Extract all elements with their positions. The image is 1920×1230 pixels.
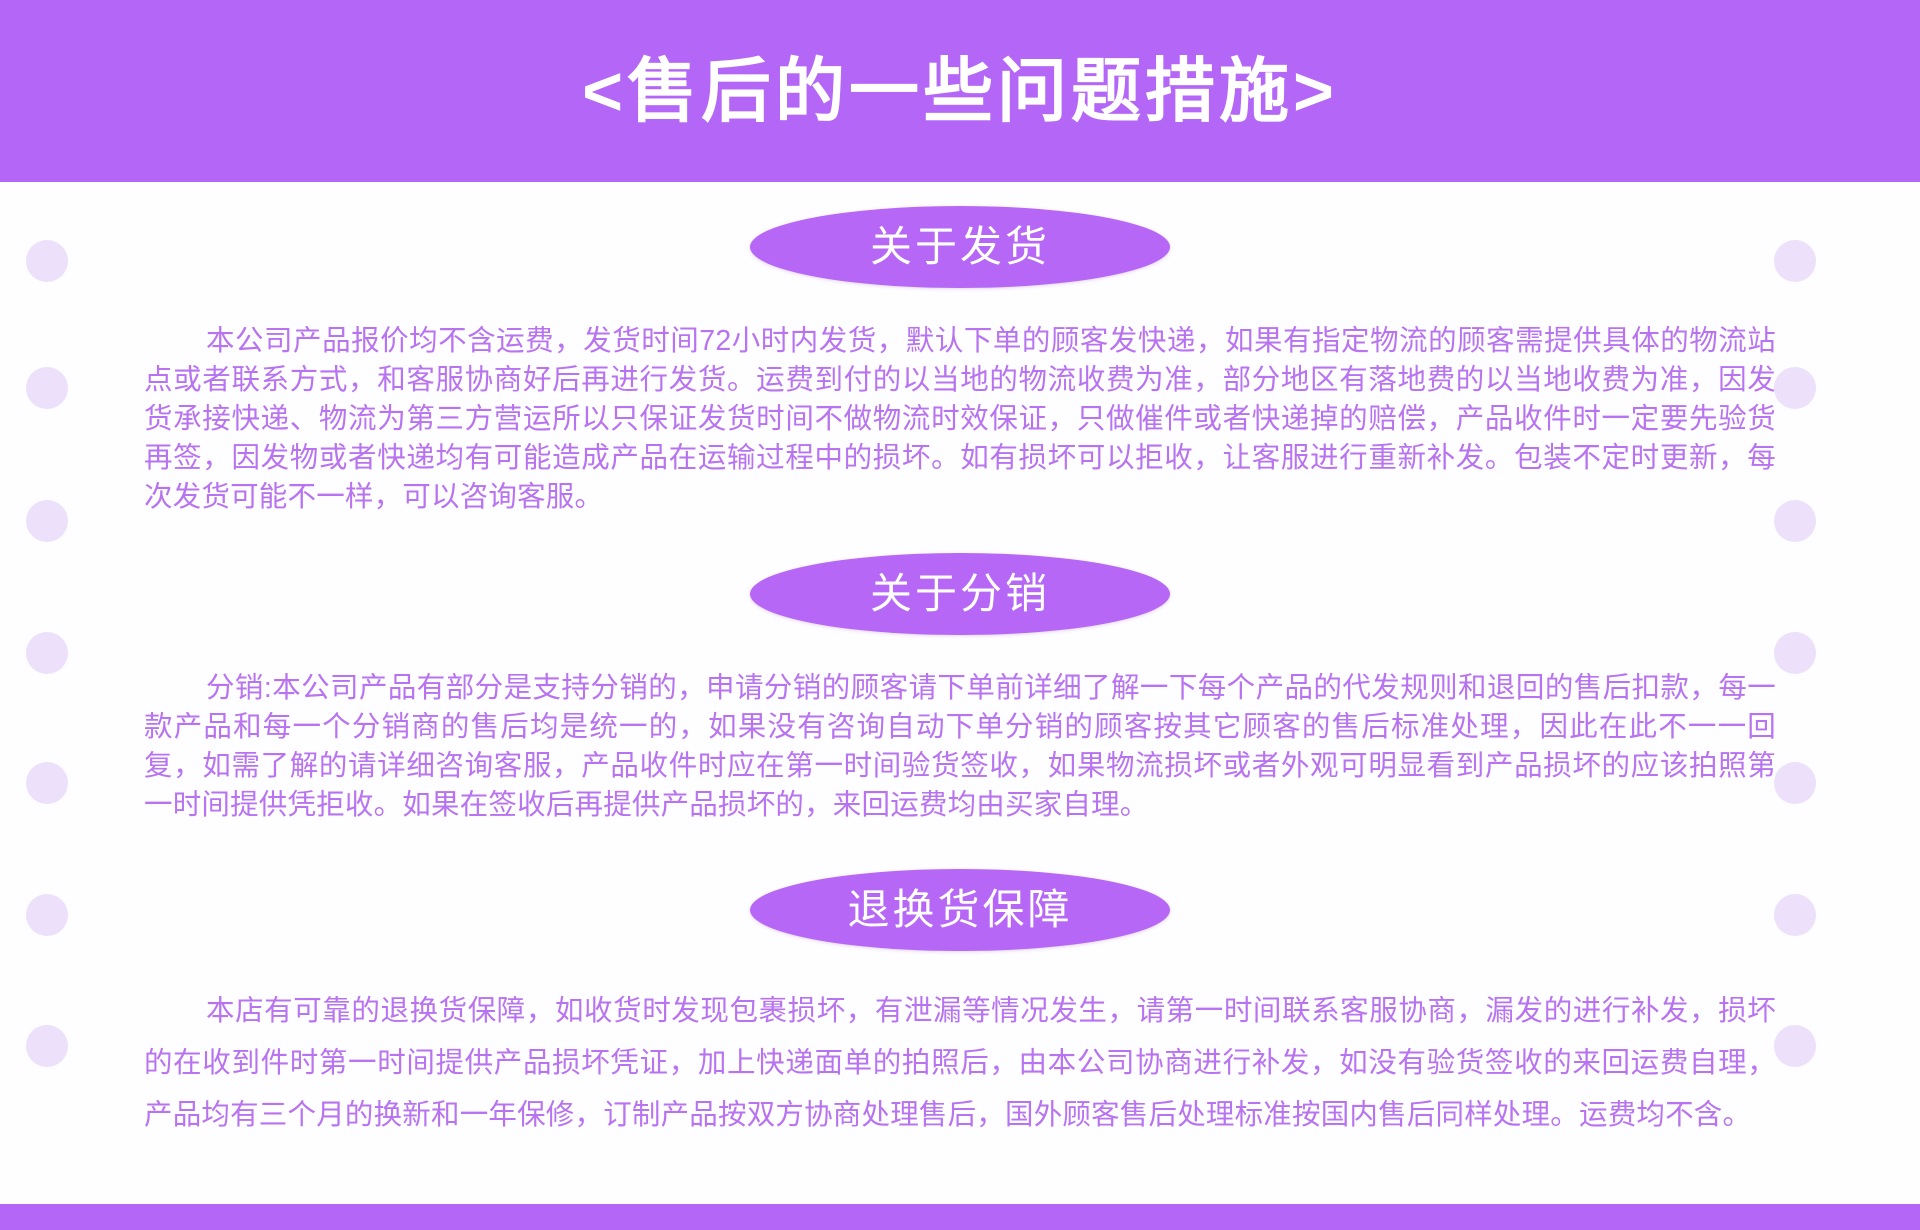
header-banner: <售后的一些问题措施> <box>0 0 1920 182</box>
section-distribution-title: 关于分销 <box>870 573 1050 615</box>
section-distribution-pill: 关于分销 <box>750 553 1170 635</box>
section-distribution-body: 分销:本公司产品有部分是支持分销的，申请分销的顾客请下单前详细了解一下每个产品的… <box>144 669 1776 825</box>
page-root: <售后的一些问题措施> 关于发货 本公司产品报价均不含运费，发货时间72小时内发… <box>0 0 1920 1230</box>
section-return-exchange: 退换货保障 本店有可靠的退换货保障，如收货时发现包裹损坏，有泄漏等情况发生，请第… <box>0 869 1920 1141</box>
page-title: <售后的一些问题措施> <box>582 56 1338 126</box>
section-distribution: 关于分销 分销:本公司产品有部分是支持分销的，申请分销的顾客请下单前详细了解一下… <box>0 553 1920 825</box>
section-return-exchange-pill: 退换货保障 <box>750 869 1170 951</box>
main-content: 关于发货 本公司产品报价均不含运费，发货时间72小时内发货，默认下单的顾客发快递… <box>0 182 1920 1204</box>
section-return-exchange-title: 退换货保障 <box>847 889 1072 931</box>
section-shipping-body: 本公司产品报价均不含运费，发货时间72小时内发货，默认下单的顾客发快递，如果有指… <box>144 322 1776 517</box>
section-return-exchange-body: 本店有可靠的退换货保障，如收货时发现包裹损坏，有泄漏等情况发生，请第一时间联系客… <box>144 985 1776 1141</box>
footer-bar <box>0 1204 1920 1230</box>
section-shipping: 关于发货 本公司产品报价均不含运费，发货时间72小时内发货，默认下单的顾客发快递… <box>0 206 1920 517</box>
section-shipping-pill: 关于发货 <box>750 206 1170 288</box>
section-shipping-title: 关于发货 <box>870 226 1050 268</box>
section-shipping-pill-wrap: 关于发货 <box>0 206 1920 288</box>
section-return-exchange-pill-wrap: 退换货保障 <box>0 869 1920 951</box>
section-distribution-pill-wrap: 关于分销 <box>0 553 1920 635</box>
